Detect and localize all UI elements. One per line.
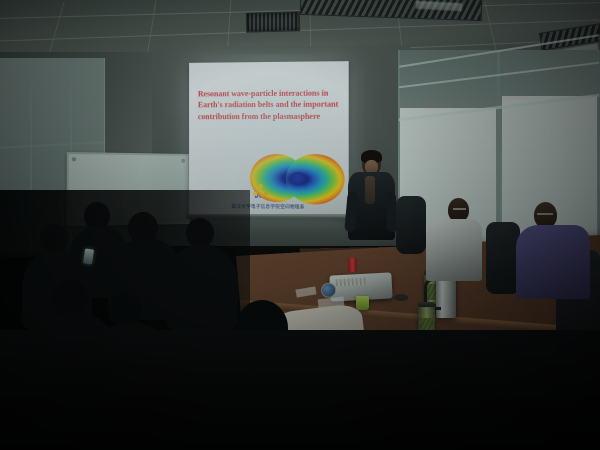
green-plastic-cup (356, 296, 369, 310)
plasma-marker (253, 192, 256, 196)
slide-reflection-in-glass: Resonant wave-particle interactions in E… (424, 94, 537, 124)
glasses-icon (453, 208, 466, 210)
attendee-shirt (516, 225, 590, 299)
attendee-purple-shirt (516, 202, 592, 302)
office-chair (486, 222, 520, 294)
radiation-belt-dipole-plot (250, 150, 345, 207)
carpet-floor (0, 330, 600, 450)
presenter-standing (348, 152, 398, 244)
plasma-marker (264, 191, 268, 195)
projector-vent (336, 278, 366, 287)
paper-handouts (394, 294, 408, 301)
office-chair (396, 196, 426, 254)
bottle-cap (418, 302, 435, 307)
dipole-core (290, 172, 306, 185)
slide-title: Resonant wave-particle interactions in E… (198, 87, 344, 122)
presenter-shirt (365, 176, 375, 204)
attendee-shirt (426, 219, 482, 281)
attendee-white-shirt (426, 198, 484, 284)
red-beverage-can (348, 258, 357, 272)
plasma-marker (258, 184, 263, 189)
ceiling-air-vent (246, 11, 301, 32)
glasses-icon (537, 213, 553, 215)
projector-lens (321, 282, 337, 298)
seminar-room-photo: Resonant wave-particle interactions in E… (0, 0, 600, 450)
